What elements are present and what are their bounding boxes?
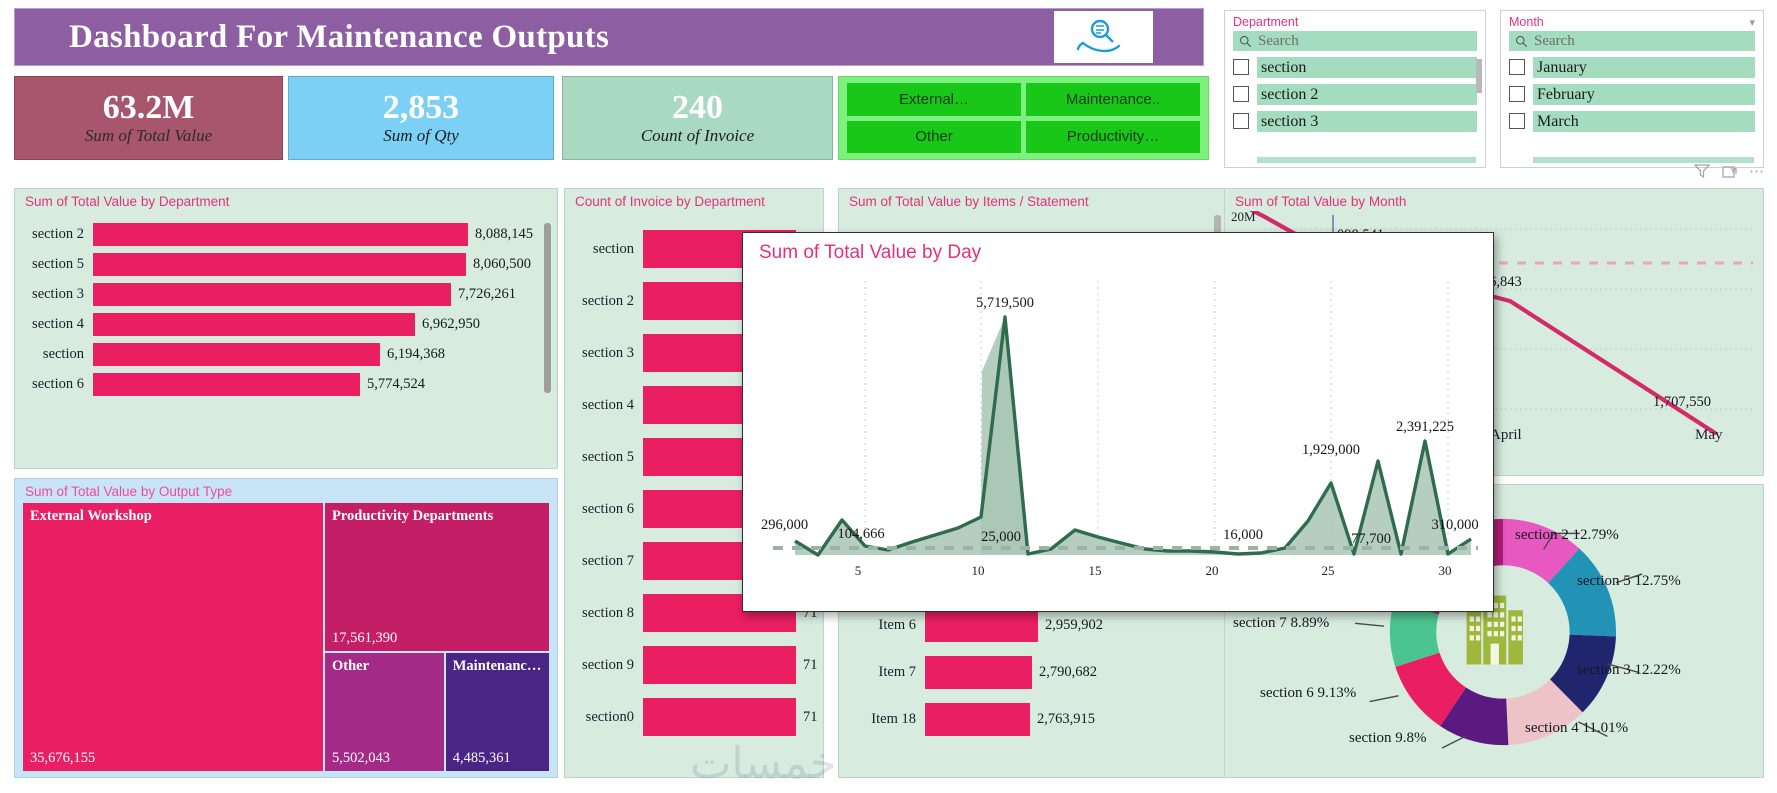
data-label: 296,000: [761, 517, 808, 533]
treemap-node-other[interactable]: Other 5,502,043: [325, 653, 444, 771]
kpi-label: Sum of Qty: [383, 126, 459, 146]
treemap-node-label: Maintenanc…: [453, 658, 542, 675]
magnifier-in-hand-icon: [1075, 17, 1133, 57]
treemap-node-value: 4,485,361: [453, 750, 511, 767]
slicer-title-text: Month: [1509, 15, 1544, 29]
slicer-item-label: March: [1533, 111, 1755, 132]
department-search-input[interactable]: Search: [1233, 31, 1477, 51]
kpi-card-total-value[interactable]: 63.2M Sum of Total Value: [14, 76, 283, 160]
bar-category-label: section 6: [565, 501, 643, 518]
x-tick-label: 30: [1439, 563, 1452, 578]
kpi-value: 240: [672, 90, 723, 126]
checkbox-icon[interactable]: [1509, 113, 1525, 129]
slicer-item-label: section 3: [1257, 111, 1477, 132]
output-type-tile-maintenance[interactable]: Maintenance..: [1026, 83, 1200, 116]
bar-value-label: 2,790,682: [1039, 664, 1097, 681]
bar-category-label: Item 7: [839, 664, 925, 681]
visual-header-icons: ⋯: [1620, 158, 1770, 184]
table-row[interactable]: section 2 8,088,145: [15, 219, 557, 249]
table-row[interactable]: section 4 6,962,950: [15, 309, 557, 339]
bar-value-label: 71: [803, 657, 818, 674]
bar-category-label: section 4: [565, 397, 643, 414]
dashboard-page: Dashboard For Maintenance Outputs 63.2M …: [0, 0, 1777, 793]
bar-fill: [643, 646, 796, 684]
output-type-slicer[interactable]: External… Maintenance.. Other Productivi…: [838, 76, 1209, 160]
checkbox-icon[interactable]: [1509, 59, 1525, 75]
donut-label-section-2: section 2 12.79%: [1515, 527, 1619, 544]
bar-category-label: section 5: [565, 449, 643, 466]
bar-value-label: 8,060,500: [473, 256, 531, 273]
page-title: Dashboard For Maintenance Outputs: [69, 19, 609, 56]
card-total-value-by-department: Sum of Total Value by Department section…: [14, 188, 558, 469]
bar-chart-total-value-by-department: section 2 8,088,145 section 5 8,060,500 …: [15, 209, 557, 399]
kpi-label: Sum of Total Value: [85, 126, 212, 146]
bar-fill: [925, 703, 1030, 736]
bar-value-label: 6,194,368: [387, 346, 445, 363]
treemap-node-label: Other: [332, 658, 369, 675]
bar-value-label: 71: [803, 709, 818, 726]
slicer-item-label: section 2: [1257, 84, 1477, 105]
card-title: Sum of Total Value by Month: [1225, 189, 1763, 209]
bar-category-label: section 7: [565, 553, 643, 570]
table-row[interactable]: section 6 5,774,524: [15, 369, 557, 399]
bar-category-label: section 6: [15, 376, 93, 393]
table-row[interactable]: section0 71: [565, 691, 823, 743]
slicer-title-text: Department: [1233, 15, 1298, 29]
x-tick-label: 25: [1322, 563, 1335, 578]
treemap-node-value: 17,561,390: [332, 630, 397, 647]
chevron-down-icon[interactable]: ▾: [1749, 16, 1755, 29]
slicer-item-label: section: [1257, 57, 1477, 78]
data-label: 16,000: [1223, 527, 1263, 543]
data-label: 310,000: [1431, 517, 1478, 533]
kpi-card-qty[interactable]: 2,853 Sum of Qty: [288, 76, 554, 160]
donut-label-section-7: section 7 8.89%: [1233, 615, 1329, 632]
bar-fill: [93, 343, 380, 366]
search-placeholder: Search: [1258, 33, 1299, 50]
card-title: Count of Invoice by Department: [565, 189, 823, 209]
slicer-item-label: January: [1533, 57, 1755, 78]
x-tick-label: May: [1695, 427, 1723, 443]
data-label: 77,700: [1351, 531, 1391, 547]
data-label: 1,929,000: [1302, 442, 1360, 458]
search-placeholder: Search: [1534, 33, 1575, 50]
bar-category-label: section 2: [565, 293, 643, 310]
kpi-card-invoice-count[interactable]: 240 Count of Invoice: [562, 76, 833, 160]
bar-value-label: 2,959,902: [1045, 617, 1103, 634]
popup-total-value-by-day[interactable]: Sum of Total Value by Day 5 10 15 20 25 …: [742, 232, 1494, 612]
area-chart-total-value-by-day: 5 10 15 20 25 30 296,000 104,666 5,719,5…: [743, 271, 1493, 611]
card-title: Sum of Total Value by Department: [15, 189, 557, 209]
bar-value-label: 5,774,524: [367, 376, 425, 393]
department-slicer-item-1[interactable]: section 2: [1233, 83, 1477, 105]
data-label: 25,000: [981, 529, 1021, 545]
bar-value-label: 2,763,915: [1037, 711, 1095, 728]
donut-label-section-6: section 6 9.13%: [1260, 685, 1356, 702]
table-row[interactable]: section 9 71: [565, 639, 823, 691]
bar-fill: [925, 656, 1032, 689]
bar-category-label: Item 18: [839, 711, 925, 728]
month-slicer-title: Month ▾: [1501, 11, 1763, 31]
bar-fill: [93, 373, 360, 396]
focus-mode-icon[interactable]: [1721, 163, 1739, 179]
checkbox-icon[interactable]: [1233, 113, 1249, 129]
bar-category-label: section 5: [15, 256, 93, 273]
kpi-value: 2,853: [383, 90, 460, 126]
treemap-node-maintenance[interactable]: Maintenanc… 4,485,361: [446, 653, 549, 771]
data-label: 5,719,500: [976, 295, 1034, 311]
y-axis-max-label: 20M: [1231, 211, 1256, 224]
x-tick-label: 15: [1089, 563, 1102, 578]
department-slicer[interactable]: Department Search section section 2 sect…: [1224, 10, 1486, 168]
table-row[interactable]: section 3 7,726,261: [15, 279, 557, 309]
month-slicer[interactable]: Month ▾ Search January February March: [1500, 10, 1764, 168]
month-slicer-item-february[interactable]: February: [1509, 83, 1755, 105]
department-slicer-overflow-hint: [1257, 157, 1476, 163]
month-search-input[interactable]: Search: [1509, 31, 1755, 51]
month-slicer-item-january[interactable]: January: [1509, 56, 1755, 78]
dashboard-banner: Dashboard For Maintenance Outputs: [14, 8, 1204, 66]
checkbox-icon[interactable]: [1509, 86, 1525, 102]
search-icon: [1239, 35, 1252, 48]
checkbox-icon[interactable]: [1233, 59, 1249, 75]
treemap-node-external-workshop[interactable]: External Workshop 35,676,155: [23, 503, 323, 771]
bar-value-label: 6,962,950: [422, 316, 480, 333]
slicer-item-label: February: [1533, 84, 1755, 105]
checkbox-icon[interactable]: [1233, 86, 1249, 102]
popup-title: Sum of Total Value by Day: [743, 233, 1493, 264]
more-options-icon[interactable]: ⋯: [1749, 162, 1764, 180]
bar-fill: [925, 609, 1038, 642]
department-slicer-item-2[interactable]: section 3: [1233, 110, 1477, 132]
kpi-value: 63.2M: [103, 90, 195, 126]
table-row[interactable]: Item 7 2,790,682: [839, 649, 1227, 696]
data-label: 1,707,550: [1653, 394, 1711, 410]
kpi-label: Count of Invoice: [641, 126, 754, 146]
search-icon: [1515, 35, 1528, 48]
donut-label-section-4: section 4 11.01%: [1525, 720, 1628, 737]
bar-category-label: section 2: [15, 226, 93, 243]
bar-category-label: section0: [565, 709, 643, 726]
treemap-node-value: 5,502,043: [332, 750, 390, 767]
treemap-total-value-by-output-type: External Workshop 35,676,155 Productivit…: [23, 503, 549, 771]
bar-category-label: section 3: [15, 286, 93, 303]
bar-fill: [93, 223, 468, 246]
x-tick-label: April: [1490, 427, 1522, 443]
donut-label-section: section 9.8%: [1349, 730, 1426, 747]
bar-fill: [93, 283, 451, 306]
bar-value-label: 8,088,145: [475, 226, 533, 243]
table-row[interactable]: section 6,194,368: [15, 339, 557, 369]
table-row[interactable]: section 5 8,060,500: [15, 249, 557, 279]
output-type-tile-productivity[interactable]: Productivity…: [1026, 121, 1200, 154]
output-type-tile-external[interactable]: External…: [847, 83, 1021, 116]
data-label: 2,391,225: [1396, 419, 1454, 435]
chart-scrollbar[interactable]: [544, 223, 551, 393]
department-slicer-item-0[interactable]: section: [1233, 56, 1477, 78]
department-slicer-title: Department: [1225, 11, 1485, 31]
bar-fill: [643, 698, 796, 736]
data-label: 104,666: [837, 526, 884, 542]
card-total-value-by-output-type: Sum of Total Value by Output Type Extern…: [14, 478, 558, 778]
filter-icon[interactable]: [1693, 163, 1711, 179]
bar-category-label: section 8: [565, 605, 643, 622]
card-title: Sum of Total Value by Output Type: [15, 479, 557, 499]
donut-label-section-3: section 3 12.22%: [1577, 662, 1681, 679]
card-title: Sum of Total Value by Items / Statement: [839, 189, 1227, 209]
treemap-node-productivity-departments[interactable]: Productivity Departments 17,561,390: [325, 503, 549, 651]
bar-category-label: section: [565, 241, 643, 258]
x-tick-label: 20: [1206, 563, 1219, 578]
area-fill: [795, 317, 1471, 555]
bar-chart-total-value-by-items: Item 6 2,959,902 Item 7 2,790,682 Item 1…: [839, 592, 1227, 743]
month-slicer-item-march[interactable]: March: [1509, 110, 1755, 132]
bar-fill: [93, 253, 466, 276]
bar-category-label: section 9: [565, 657, 643, 674]
treemap-node-label: External Workshop: [30, 508, 152, 525]
table-row[interactable]: Item 18 2,763,915: [839, 696, 1227, 743]
bar-category-label: section 3: [565, 345, 643, 362]
bar-category-label: section: [15, 346, 93, 363]
bar-value-label: 7,726,261: [458, 286, 516, 303]
output-type-tile-other[interactable]: Other: [847, 121, 1021, 154]
x-tick-label: 5: [855, 563, 862, 578]
bar-category-label: section 4: [15, 316, 93, 333]
department-slicer-scrollbar[interactable]: [1476, 59, 1482, 93]
treemap-node-label: Productivity Departments: [332, 508, 493, 525]
bar-fill: [93, 313, 415, 336]
treemap-node-value: 35,676,155: [30, 750, 95, 767]
x-tick-label: 10: [972, 563, 985, 578]
logo-card: [1054, 11, 1153, 63]
donut-label-section-5: section 5 12.75%: [1577, 573, 1681, 590]
bar-category-label: Item 6: [839, 617, 925, 634]
